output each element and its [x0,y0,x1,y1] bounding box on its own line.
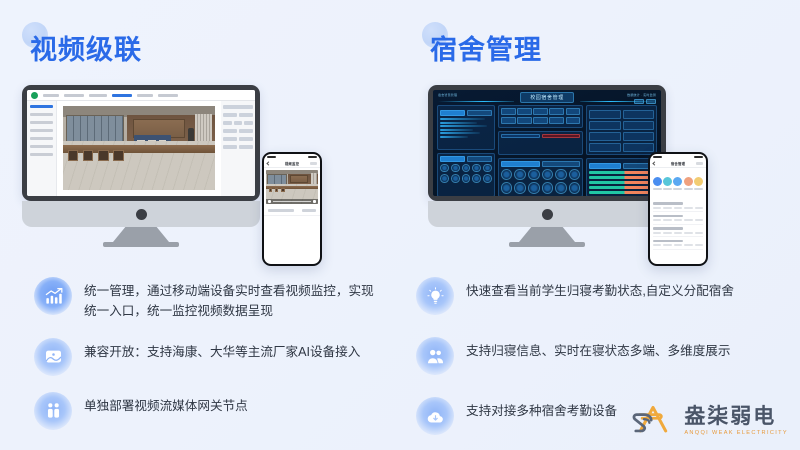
quick-action-icon [694,177,703,186]
panel-video-cascade: 视频级联 [0,0,400,450]
sidebar-item[interactable] [30,129,53,132]
phone-nav-title: 视频监控 [285,161,299,166]
quick-actions-row [650,175,706,193]
gauge-block [566,117,581,124]
student-avatar[interactable] [514,182,526,194]
two-people-icon [34,392,72,430]
cell [674,207,682,209]
room-dial[interactable] [462,174,471,183]
gauge-block [549,108,564,115]
quick-action-icon [663,177,672,186]
panel-chip-row [223,129,253,133]
dashboard-header: 宿舍智慧管理 校园宿舍管理 数据统计 · 实时监测 [435,92,659,103]
cell [663,207,671,209]
dark-dashboard-app: 宿舍智慧管理 校园宿舍管理 数据统计 · 实时监测 [433,90,661,196]
data-row [440,118,485,120]
device-box[interactable] [623,121,654,130]
app-sidebar [27,101,57,196]
student-avatar[interactable] [555,169,567,181]
nav-item[interactable] [64,94,84,97]
feature-item: 统一管理，通过移动端设备实时查看视频监控，实现统一入口，统一监控视频数据呈现 [34,277,374,322]
card-rows [440,118,492,138]
status-time [653,156,662,158]
phone-nav-actions[interactable] [696,162,703,165]
dorm-list [650,200,706,265]
gauge-block [517,108,532,115]
list-item-cells [653,244,703,246]
device-boxes [589,110,654,152]
anqqi-logo-mark-icon [631,402,675,440]
surveillance-room-photo [63,106,215,190]
student-avatars-row [501,182,581,194]
monitor-frame: 宿舍智慧管理 校园宿舍管理 数据统计 · 实时监测 [428,85,666,201]
room-cubby [68,150,79,161]
monitor-base [428,201,666,227]
ranking-bar [589,176,654,179]
dashboard-column-left [437,105,495,196]
monitor-stand-foot [509,242,585,247]
video-controls[interactable] [266,199,318,204]
sidebar-item[interactable] [30,105,53,108]
feature-list-left: 统一管理，通过移动端设备实时查看视频监控，实现统一入口，统一监控视频数据呈现 兼… [34,277,374,446]
dashboard-card-devices [586,105,657,155]
monitor-stand-neck [113,227,169,242]
tab[interactable] [467,110,492,116]
monitor-mockup-dashboard: 宿舍智慧管理 校园宿舍管理 数据统计 · 实时监测 [428,85,666,247]
room-cubby [275,188,279,192]
list-item-cells [653,207,703,209]
list-item[interactable] [653,200,703,213]
student-avatars-row [501,169,581,181]
cell [684,219,692,221]
cell [653,207,661,209]
dashboard-grid [435,103,659,196]
room-ledge [266,186,318,189]
cell [695,219,703,221]
tab-active[interactable] [440,110,465,116]
panel-chip[interactable] [234,121,243,125]
student-avatar[interactable] [542,182,554,194]
panel-title-wrap: 视频级联 [30,28,142,67]
device-box[interactable] [589,121,620,130]
nav-item[interactable] [89,94,107,97]
device-box[interactable] [589,132,620,141]
cell [663,244,671,246]
feature-text: 兼容开放：支持海康、大华等主流厂家AI设备接入 [84,338,360,362]
cell [674,232,682,234]
card-tabs[interactable] [589,163,654,169]
student-avatar[interactable] [555,182,567,194]
quick-action[interactable] [653,177,662,190]
gauge-block [501,117,516,124]
gauge-block [501,108,516,115]
dashboard-title: 校园宿舍管理 [520,92,574,103]
dashboard-header-right: 数据统计 · 实时监测 [627,93,656,97]
dashboard-header-buttons[interactable] [634,99,656,104]
page-title: 视频级联 [30,28,142,67]
feature-item: 快速查看当前学生归寝考勤状态,自定义分配宿舍 [416,277,786,315]
video-surveillance-app [27,90,255,196]
panel-chip-row [223,145,253,149]
panel-chip-row [223,121,253,125]
cell [684,207,692,209]
header-button[interactable] [646,99,656,104]
room-dial[interactable] [483,164,492,173]
device-box[interactable] [623,132,654,141]
cell [653,219,661,221]
student-avatar[interactable] [514,169,526,181]
cell [674,244,682,246]
device-box[interactable] [623,110,654,119]
list-item[interactable] [653,237,703,250]
dashboard-card-stats [437,105,495,150]
room-dial[interactable] [451,174,460,183]
phone-info-row [264,206,320,216]
status-icons [308,156,317,158]
room-dial[interactable] [472,164,481,173]
cell [674,219,682,221]
room-cubby [98,150,109,161]
cell [653,232,661,234]
phone-nav-title: 宿舍管理 [671,161,685,166]
progress-bar[interactable] [273,201,311,202]
dashboard-header-left: 宿舍智慧管理 [438,93,457,97]
dashboard-card-rooms [437,153,495,197]
panel-chip[interactable] [239,137,253,141]
dashboard-card-ranking [586,158,657,196]
status-icons [694,156,703,158]
room-dial[interactable] [440,174,449,183]
app-right-panel [221,101,255,196]
dashboard-card-alerts [498,131,584,154]
cell [663,232,671,234]
panel-chip-row [223,113,253,117]
cell [695,244,703,246]
feature-item: 兼容开放：支持海康、大华等主流厂家AI设备接入 [34,338,374,376]
nav-item[interactable] [43,94,59,97]
phone-screen: 宿舍管理 [650,154,706,264]
room-dial[interactable] [462,164,471,173]
brand-name-cn: 盎柒弱电 [684,406,788,428]
room-cubby [269,188,273,192]
nav-item[interactable] [137,94,153,97]
phone-nav-bar: 宿舍管理 [650,160,706,168]
panel-title-wrap: 宿舍管理 [430,28,542,67]
feature-item: 支持归寝信息、实时在寝状态多端、多维度展示 [416,337,786,375]
ranking-bar [589,171,654,174]
gauge-block [517,117,532,124]
device-box[interactable] [623,143,654,152]
quick-action[interactable] [673,177,682,190]
room-dials-row [440,174,492,183]
panel-dormitory-management: 宿舍管理 宿舍智慧管理 校园宿舍管理 数据统计 · 实时监测 [400,0,800,450]
quick-action-label [684,188,693,190]
phone-mockup-video: 视频监控 [262,152,322,266]
panel-chip[interactable] [223,121,232,125]
lightbulb-idea-icon [416,277,454,315]
feature-text: 快速查看当前学生归寝考勤状态,自定义分配宿舍 [466,277,734,301]
monitor-frame [22,85,260,201]
brand-text: 盎柒弱电 ANQQI WEAK ELECTRICITY [684,406,788,436]
student-avatar[interactable] [569,169,581,181]
app-logo-icon [31,92,38,99]
camera-status-text [302,209,316,212]
monitor-logo-icon [542,209,553,220]
brand-logo: 盎柒弱电 ANQQI WEAK ELECTRICITY [631,402,788,440]
list-item-title [653,202,683,205]
ranking-bar [589,181,654,184]
tab-active[interactable] [589,163,620,169]
monitor-stand-foot [103,242,179,247]
data-row [440,125,487,127]
sidebar-item[interactable] [30,145,53,148]
phone-video-player[interactable] [266,170,318,204]
quick-action-icon [673,177,682,186]
data-row [440,122,477,124]
room-cabinet [290,175,308,182]
app-top-nav [27,90,255,101]
alert-panel-warning [542,134,581,138]
device-box[interactable] [589,143,620,152]
dashboard-column-center [498,105,584,196]
tab[interactable] [467,156,492,162]
nav-item-active[interactable] [112,94,132,97]
feature-text: 单独部署视频流媒体网关节点 [84,392,248,416]
nav-item[interactable] [158,94,178,97]
quick-action-icon [653,177,662,186]
room-dials-row [440,164,492,173]
monitor-base [22,201,260,227]
panel-chip[interactable] [239,145,253,149]
list-item-cells [653,232,703,234]
group-users-icon [416,337,454,375]
ranking-bars [589,171,654,194]
quick-action-icon [684,177,693,186]
gauge-block [549,117,564,124]
list-item-cells [653,219,703,221]
gauge-block [533,117,548,124]
device-box[interactable] [589,110,620,119]
camera-name-text [268,209,294,212]
gauge-block-row [501,108,581,115]
sidebar-item[interactable] [30,153,53,156]
app-body [27,101,255,196]
back-arrow-icon[interactable] [266,161,270,165]
phone-nav-bar: 视频监控 [264,160,320,168]
quick-action-label [663,188,672,190]
student-avatar[interactable] [569,182,581,194]
cell [695,232,703,234]
student-avatar[interactable] [528,182,540,194]
header-button[interactable] [634,99,644,104]
sidebar-item[interactable] [30,137,53,140]
list-item-title [653,227,683,230]
status-time [267,156,276,158]
panel-chip[interactable] [223,137,237,141]
feature-text: 支持归寝信息、实时在寝状态多端、多维度展示 [466,337,730,361]
gauge-block [533,108,548,115]
feature-item: 单独部署视频流媒体网关节点 [34,392,374,430]
sidebar-item[interactable] [30,113,53,116]
phone-mockup-dorm: 宿舍管理 [648,152,708,266]
list-item-title [653,215,683,218]
monitor-logo-icon [136,209,147,220]
quick-action-label [653,188,662,190]
panel-chip[interactable] [239,113,253,117]
tab-active[interactable] [501,161,540,167]
dashboard-card-students [498,158,584,196]
alert-panels [501,134,581,138]
fullscreen-icon[interactable] [313,200,316,203]
monitor-mockup-video [22,85,260,247]
page-title: 宿舍管理 [430,28,542,67]
panel-chip[interactable] [223,129,237,133]
data-row [440,132,480,134]
cell [653,244,661,246]
phone-nav-actions[interactable] [310,162,317,165]
panel-chip[interactable] [244,121,253,125]
list-item[interactable] [653,212,703,225]
cell [684,244,692,246]
room-dial[interactable] [483,174,492,183]
monitor-stand-neck [519,227,575,242]
quick-action[interactable] [684,177,693,190]
gauge-block [566,108,581,115]
cell [695,207,703,209]
bar-chart-growth-icon [34,277,72,315]
panel-chip-row [223,137,253,141]
cloud-download-icon [416,397,454,435]
quick-action[interactable] [663,177,672,190]
gauge-block-row [501,117,581,124]
monitor-screen: 宿舍智慧管理 校园宿舍管理 数据统计 · 实时监测 [433,90,661,196]
cell [663,219,671,221]
data-row [440,136,468,138]
panel-chip[interactable] [239,129,253,133]
image-picture-icon [34,338,72,376]
ranking-bar [589,186,654,189]
monitor-screen [27,90,255,196]
student-avatar[interactable] [528,169,540,181]
sidebar-item[interactable] [30,121,53,124]
list-item-title [653,240,683,243]
back-arrow-icon[interactable] [652,161,656,165]
student-avatar[interactable] [542,169,554,181]
play-icon[interactable] [268,200,271,203]
room-cubby [281,188,285,192]
brand-name-en: ANQQI WEAK ELECTRICITY [684,430,788,436]
room-cubby [113,150,124,161]
dashboard-column-right [586,105,657,196]
room-dial[interactable] [472,174,481,183]
dashboard-card-gauges [498,105,584,128]
room-cubby [83,150,94,161]
quick-action-label [673,188,682,190]
data-row [440,129,473,131]
card-tabs[interactable] [440,156,492,162]
feature-text: 统一管理，通过移动端设备实时查看视频监控，实现统一入口，统一监控视频数据呈现 [84,277,374,322]
list-item[interactable] [653,225,703,238]
video-player-area[interactable] [57,101,221,196]
panel-chip[interactable] [223,145,237,149]
student-avatar[interactable] [501,182,513,194]
feature-text: 支持对接多种宿舍考勤设备 [466,397,617,421]
room-dial[interactable] [440,164,449,173]
tab[interactable] [542,161,581,167]
alert-panel-normal [501,134,540,138]
panel-chip[interactable] [223,105,253,109]
phone-section-label [650,193,706,200]
card-tabs[interactable] [440,110,492,116]
ranking-bar [589,191,654,194]
student-avatar[interactable] [501,169,513,181]
quick-action-label [694,188,703,190]
phone-screen: 视频监控 [264,154,320,264]
card-tabs[interactable] [501,161,581,167]
panel-chip[interactable] [223,113,237,117]
tab-active[interactable] [440,156,465,162]
cell [684,232,692,234]
phone-section-label [650,168,706,175]
quick-action[interactable] [694,177,703,190]
room-dial[interactable] [451,164,460,173]
